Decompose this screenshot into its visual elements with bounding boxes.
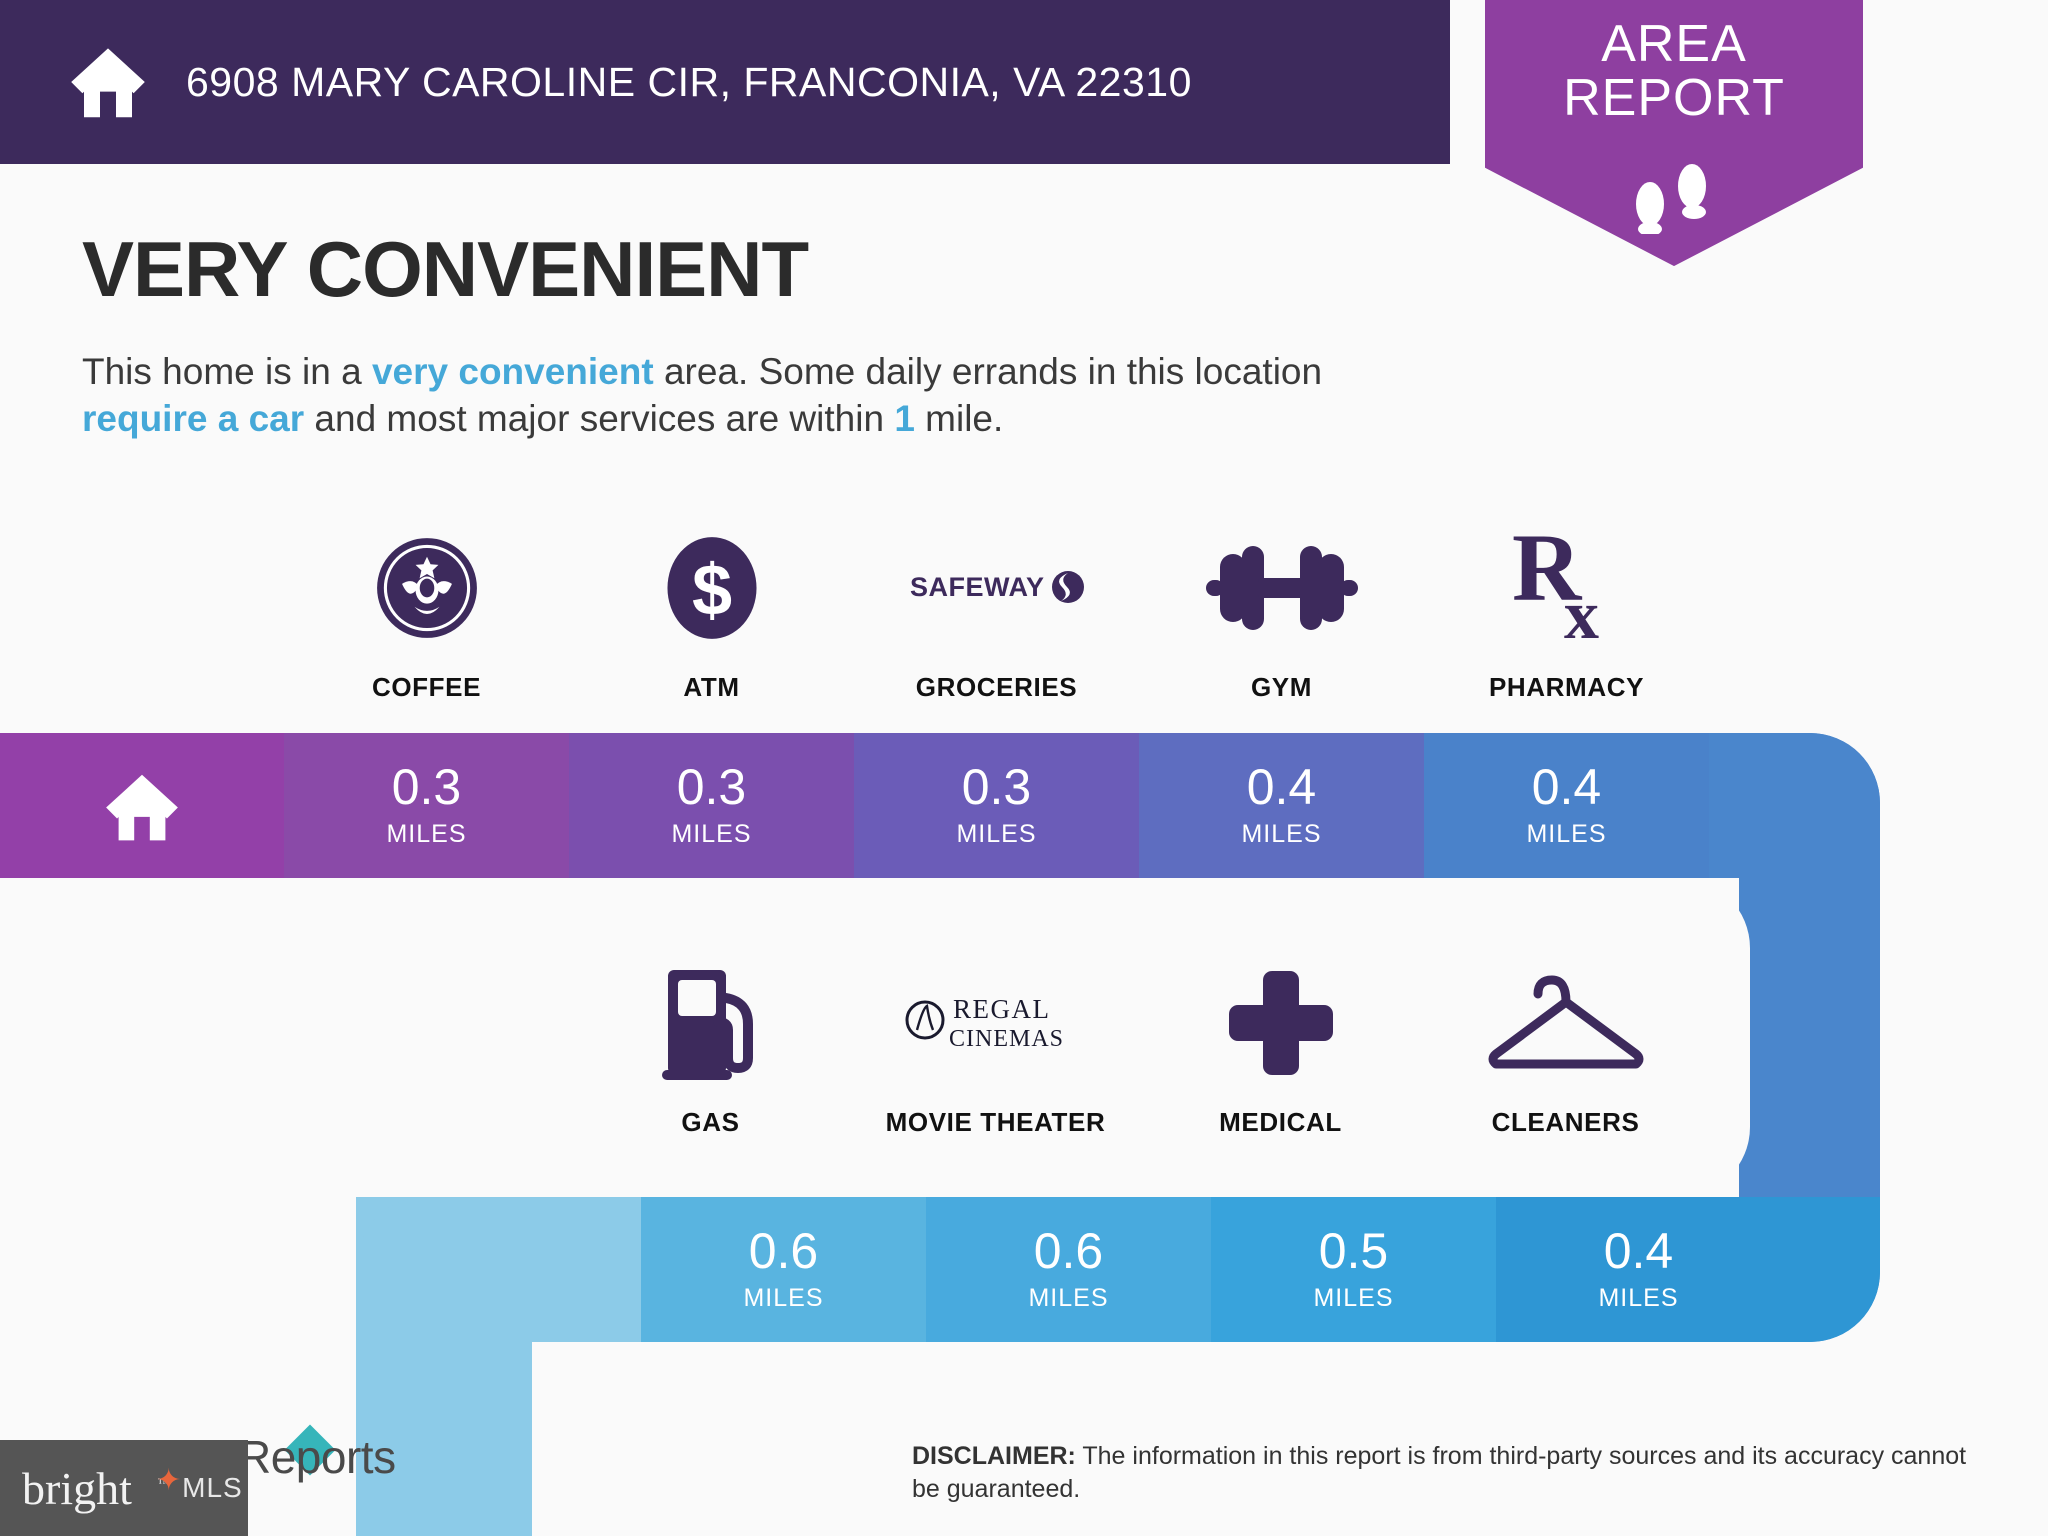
starbucks-logo-icon — [375, 525, 479, 650]
distance-cell-movie-theater: 0.6 MILES — [926, 1197, 1211, 1342]
description-text: This home is in a very convenient area. … — [82, 348, 1457, 443]
distance-cell-pharmacy: 0.4 MILES — [1424, 733, 1709, 878]
svg-text:$: $ — [691, 550, 731, 630]
badge-line-1: AREA — [1468, 18, 1880, 72]
watermark-mls: MLS — [182, 1472, 243, 1504]
watermark-brand-text: bright — [22, 1463, 132, 1514]
disclaimer-text: DISCLAIMER: The information in this repo… — [912, 1440, 1982, 1506]
distance-cell-cleaners: 0.4 MILES — [1496, 1197, 1781, 1342]
home-icon — [68, 42, 148, 122]
amenity-label: GYM — [1251, 672, 1312, 703]
distance-unit: MILES — [743, 1284, 823, 1313]
amenity-gym: GYM — [1139, 525, 1424, 703]
property-address: 6908 MARY CAROLINE CIR, FRANCONIA, VA 22… — [186, 59, 1192, 106]
distance-value: 0.4 — [1604, 1226, 1674, 1276]
distance-value: 0.6 — [1034, 1226, 1104, 1276]
bright-mls-watermark: bright ✦ ™ MLS — [0, 1440, 248, 1536]
footprints-icon — [1626, 160, 1722, 234]
desc-highlight-2: require a car — [82, 398, 304, 439]
svg-text:SAFEWAY: SAFEWAY — [910, 572, 1045, 602]
amenity-icon-row-top: COFFEE $ ATM SAFEWAY GROCERIES — [284, 525, 1564, 703]
amenity-label: MOVIE THEATER — [886, 1107, 1106, 1138]
desc-highlight-1: very convenient — [372, 351, 654, 392]
distance-value: 0.3 — [677, 762, 747, 812]
distance-value: 0.4 — [1247, 762, 1317, 812]
reports-logo-text: Reports — [238, 1430, 396, 1484]
area-report-badge: AREA REPORT — [1468, 0, 1880, 282]
rx-icon: R x — [1512, 525, 1622, 650]
amenity-label: PHARMACY — [1489, 672, 1644, 703]
distance-unit: MILES — [1598, 1284, 1678, 1313]
sparkle-icon: ✦ — [156, 1470, 178, 1492]
desc-part-4: mile. — [915, 398, 1003, 439]
page-title: VERY CONVENIENT — [82, 224, 808, 315]
svg-text:CINEMAS: CINEMAS — [949, 1026, 1064, 1052]
amenity-movie-theater: REGAL CINEMAS MOVIE THEATER — [853, 960, 1138, 1138]
distance-value: 0.4 — [1532, 762, 1602, 812]
amenity-gas: GAS — [568, 960, 853, 1138]
distance-cell-gas: 0.6 MILES — [641, 1197, 926, 1342]
distance-cell-atm: 0.3 MILES — [569, 733, 854, 878]
distance-value: 0.6 — [749, 1226, 819, 1276]
distance-cell-coffee: 0.3 MILES — [284, 733, 569, 878]
amenity-label: COFFEE — [372, 672, 481, 703]
badge-line-2: REPORT — [1468, 72, 1880, 126]
ribbon-tail-bottom — [1781, 1197, 1880, 1342]
svg-text:REGAL: REGAL — [953, 994, 1051, 1024]
amenity-medical: MEDICAL — [1138, 960, 1423, 1138]
badge-text: AREA REPORT — [1468, 18, 1880, 125]
area-report-page: 6908 MARY CAROLINE CIR, FRANCONIA, VA 22… — [0, 0, 2048, 1536]
distance-cell-groceries: 0.3 MILES — [854, 733, 1139, 878]
distance-unit: MILES — [956, 820, 1036, 849]
distance-unit: MILES — [1241, 820, 1321, 849]
amenity-cleaners: CLEANERS — [1423, 960, 1708, 1138]
amenity-label: MEDICAL — [1219, 1107, 1342, 1138]
distance-unit: MILES — [1313, 1284, 1393, 1313]
amenity-label: GROCERIES — [916, 672, 1077, 703]
distance-unit: MILES — [386, 820, 466, 849]
dumbbell-icon — [1206, 525, 1358, 650]
watermark-brand: bright ✦ ™ — [22, 1462, 170, 1515]
coat-hanger-icon — [1486, 960, 1646, 1085]
header-bar: 6908 MARY CAROLINE CIR, FRANCONIA, VA 22… — [0, 0, 1450, 164]
distance-unit: MILES — [671, 820, 751, 849]
desc-part-1: This home is in a — [82, 351, 372, 392]
desc-part-2: area. Some daily errands in this locatio… — [654, 351, 1322, 392]
amenity-groceries: SAFEWAY GROCERIES — [854, 525, 1139, 703]
amenity-label: GAS — [681, 1107, 739, 1138]
distance-ribbon-top: 0.3 MILES 0.3 MILES 0.3 MILES 0.4 MILES … — [0, 733, 1880, 878]
distance-cell-gym: 0.4 MILES — [1139, 733, 1424, 878]
medical-cross-icon — [1227, 960, 1335, 1085]
desc-highlight-3: 1 — [894, 398, 915, 439]
distance-value: 0.5 — [1319, 1226, 1389, 1276]
home-icon — [101, 767, 183, 845]
distance-value: 0.3 — [392, 762, 462, 812]
desc-part-3: and most major services are within — [304, 398, 894, 439]
amenity-coffee: COFFEE — [284, 525, 569, 703]
amenity-label: CLEANERS — [1492, 1107, 1640, 1138]
amenity-atm: $ ATM — [569, 525, 854, 703]
distance-unit: MILES — [1028, 1284, 1108, 1313]
distance-unit: MILES — [1526, 820, 1606, 849]
amenity-icon-row-bottom: GAS REGAL CINEMAS MOVIE THEATER MEDICA — [568, 960, 1563, 1138]
distance-ribbon-bottom: 0.6 MILES 0.6 MILES 0.5 MILES 0.4 MILES — [356, 1197, 1880, 1342]
svg-text:x: x — [1564, 577, 1599, 646]
ribbon-bottom-cutout — [532, 1342, 1880, 1536]
distance-value: 0.3 — [962, 762, 1032, 812]
safeway-logo-icon: SAFEWAY — [908, 525, 1086, 650]
dollar-circle-icon: $ — [659, 525, 765, 650]
distance-cell-medical: 0.5 MILES — [1211, 1197, 1496, 1342]
disclaimer-label: DISCLAIMER: — [912, 1442, 1076, 1470]
ribbon-left-tail — [356, 1197, 532, 1536]
gas-pump-icon — [658, 960, 764, 1085]
amenity-pharmacy: R x PHARMACY — [1424, 525, 1709, 703]
ribbon-home-cell — [0, 733, 284, 878]
amenity-label: ATM — [683, 672, 739, 703]
regal-cinemas-icon: REGAL CINEMAS — [903, 960, 1089, 1085]
